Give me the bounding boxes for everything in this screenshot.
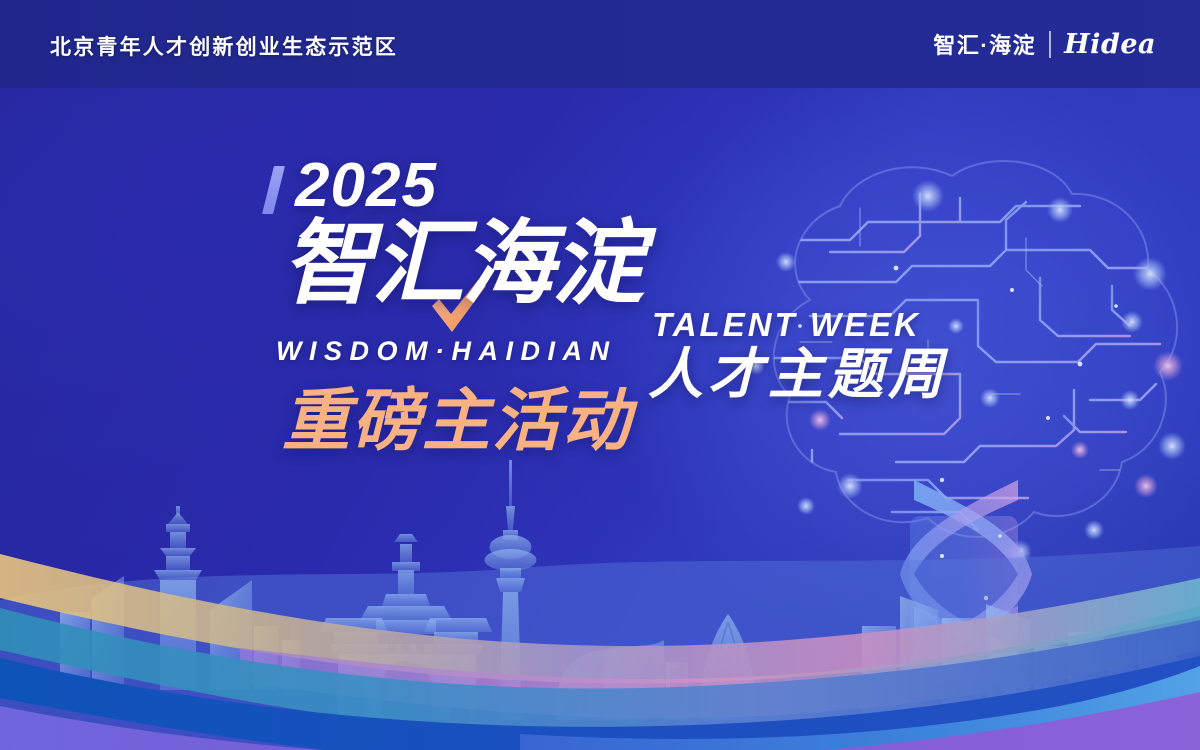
hero-headline-row: 重磅主活动 <box>268 388 1008 468</box>
header-bar: 北京青年人才创新创业生态示范区 智汇·海淀 Hidea <box>0 0 1200 88</box>
hero-year: 2025 <box>295 155 437 217</box>
hero-title-block: 2025 智汇海淀 TALENT WEEK 人才主题周 WISDO <box>268 160 1008 468</box>
hero-headline: 重磅主活动 <box>282 388 632 456</box>
wave-ribbons <box>0 520 1200 750</box>
header-title: 北京青年人才创新创业生态示范区 <box>50 31 398 61</box>
brand-lockup: 智汇·海淀 Hidea <box>933 28 1156 60</box>
hero-main-row: 智汇海淀 TALENT WEEK 人才主题周 <box>268 226 1008 330</box>
brand-name-en: Hidea <box>1064 29 1156 60</box>
hero-brand-cn: 智汇海淀 <box>282 218 642 310</box>
hero-brand-en: WISDOM·HAIDIAN <box>276 336 616 367</box>
promo-banner: 中关村一号 <box>0 0 1200 750</box>
brand-name-cn: 智汇·海淀 <box>933 28 1036 60</box>
hero-sub-row: WISDOM·HAIDIAN <box>268 336 1008 372</box>
brand-divider <box>1049 31 1051 58</box>
